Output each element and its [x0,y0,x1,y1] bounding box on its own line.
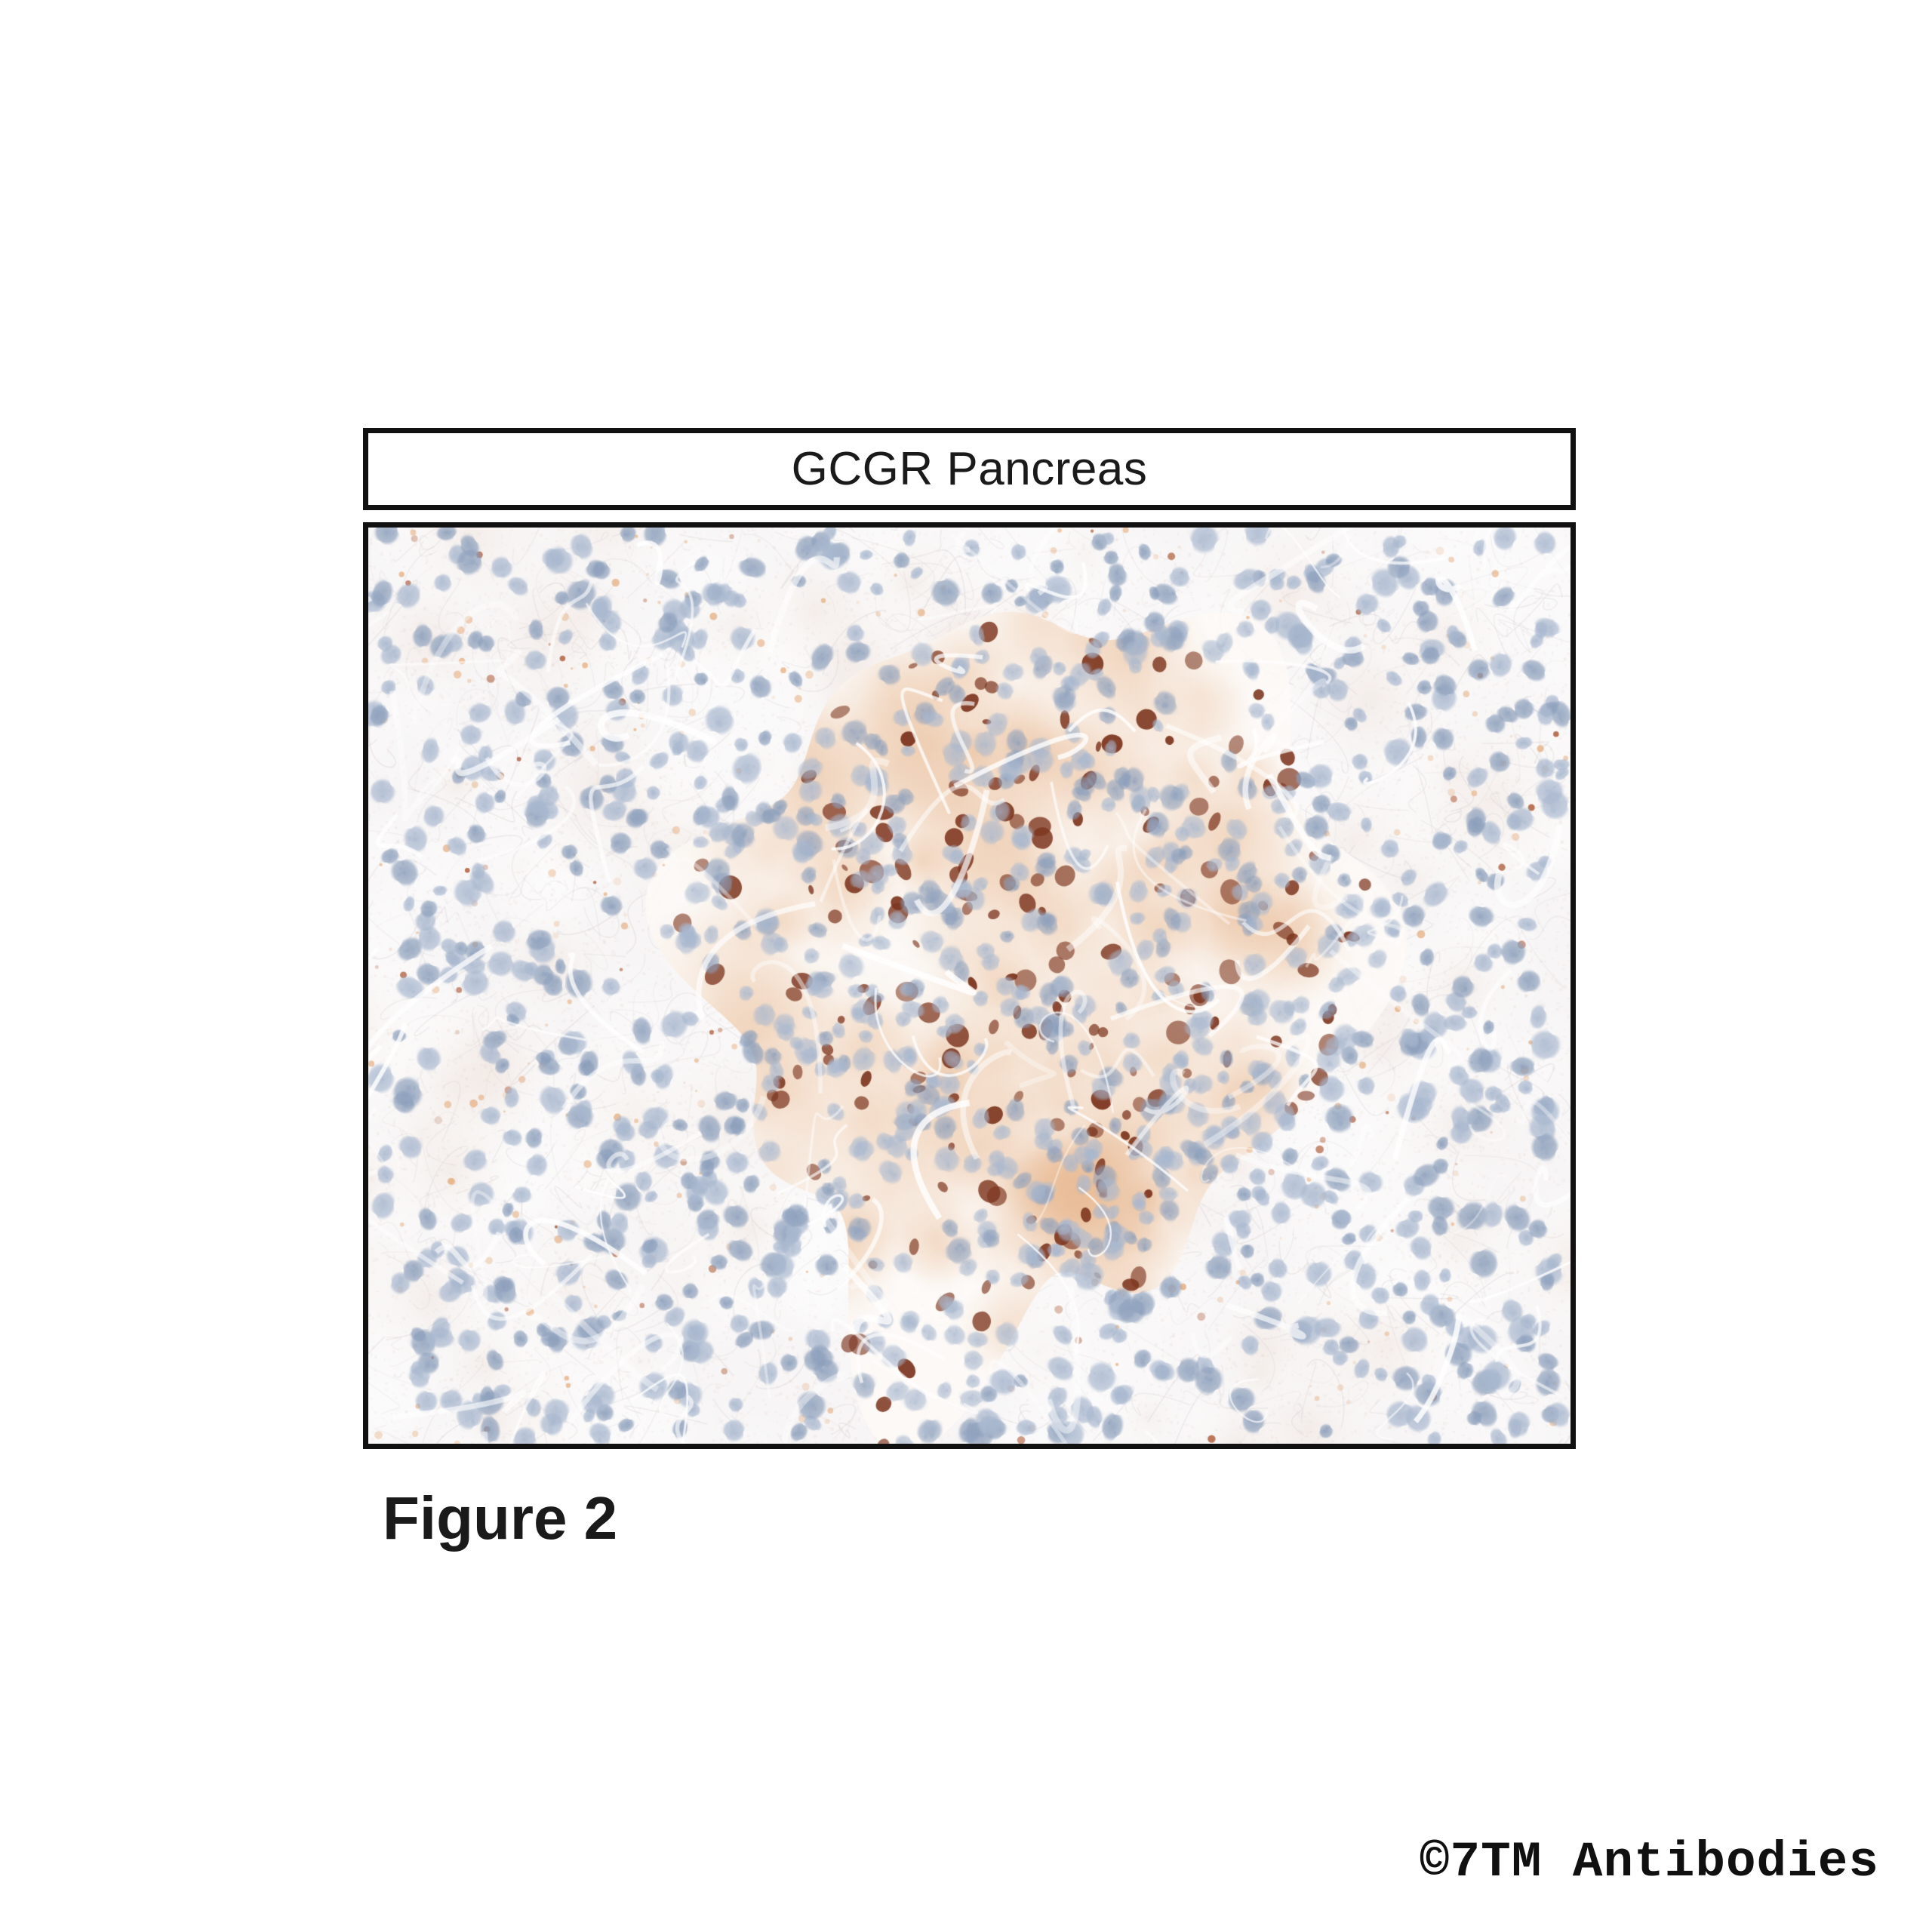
micrograph-panel [363,522,1576,1449]
panel-title: GCGR Pancreas [792,446,1148,493]
figure-block: GCGR Pancreas Figure 2 [363,428,1576,1549]
figure-caption: Figure 2 [363,1488,1576,1549]
panel-title-bar: GCGR Pancreas [363,428,1576,510]
copyright-notice: ©7TM Antibodies [1420,1834,1879,1890]
micrograph-image [368,528,1571,1444]
